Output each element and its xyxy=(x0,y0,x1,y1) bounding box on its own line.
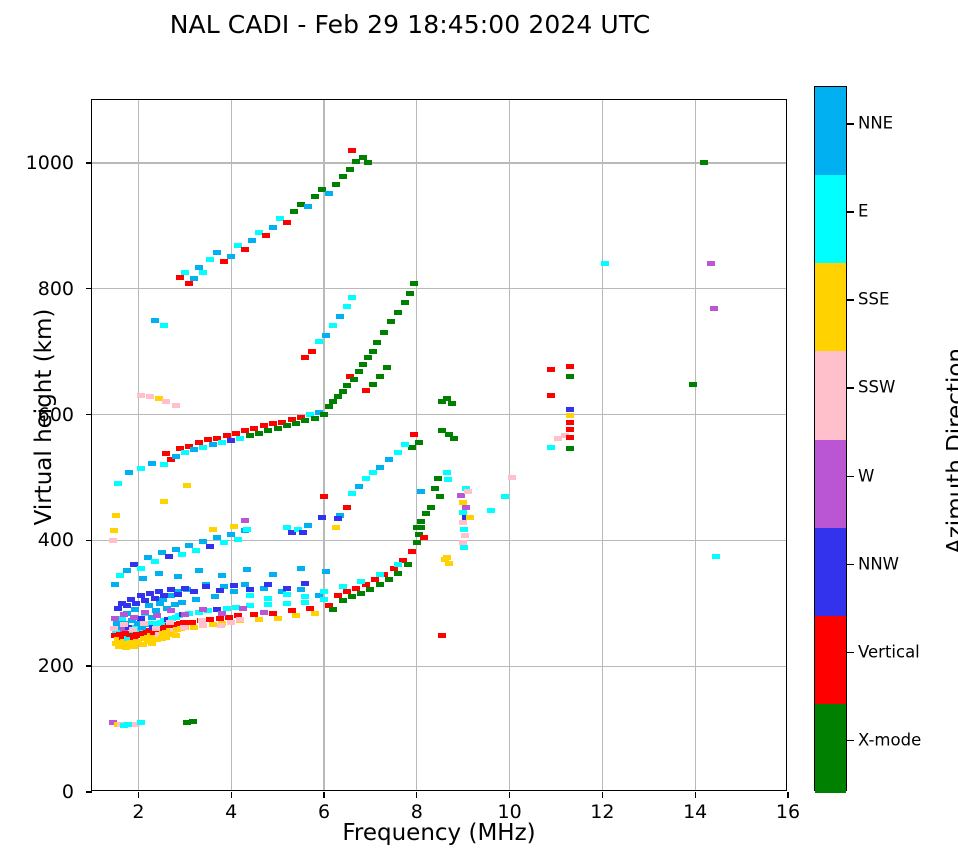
gridline-vertical xyxy=(509,100,510,790)
data-point xyxy=(566,427,574,432)
data-point xyxy=(114,481,122,486)
data-point xyxy=(274,426,282,431)
gridline-vertical xyxy=(602,100,603,790)
data-point xyxy=(172,403,180,408)
data-point xyxy=(461,533,469,538)
colorbar-segment-nne xyxy=(815,87,846,176)
data-point xyxy=(199,270,207,275)
data-point xyxy=(172,633,180,638)
data-point xyxy=(332,525,340,530)
colorbar-segment-e xyxy=(815,175,846,264)
data-point xyxy=(311,611,319,616)
data-point xyxy=(230,583,238,588)
data-point xyxy=(174,574,182,579)
data-point xyxy=(566,374,574,379)
colorbar-label-sse: SSE xyxy=(858,290,889,309)
data-point xyxy=(408,549,416,554)
data-point xyxy=(110,528,118,533)
data-point xyxy=(348,594,356,599)
colorbar-tick xyxy=(847,740,854,742)
data-point xyxy=(466,515,474,520)
data-point xyxy=(141,598,149,603)
data-point xyxy=(269,572,277,577)
data-point xyxy=(140,621,148,626)
data-point xyxy=(172,454,180,459)
data-point xyxy=(216,588,224,593)
data-point xyxy=(348,295,356,300)
data-point xyxy=(209,622,217,627)
data-point xyxy=(420,535,428,540)
data-point xyxy=(174,592,182,597)
data-point xyxy=(234,537,242,542)
data-point xyxy=(178,552,186,557)
data-point xyxy=(364,160,372,165)
data-point xyxy=(376,465,384,470)
colorbar-label-nnw: NNW xyxy=(858,554,899,573)
data-point xyxy=(181,270,189,275)
data-point xyxy=(359,362,367,367)
data-point xyxy=(114,606,122,611)
colorbar-label-x-mode: X-mode xyxy=(858,730,921,749)
data-point xyxy=(241,518,249,523)
data-point xyxy=(460,527,468,532)
data-point xyxy=(445,561,453,566)
data-point xyxy=(217,623,225,628)
data-point xyxy=(408,445,416,450)
colorbar-segment-sse xyxy=(815,263,846,352)
data-point xyxy=(547,393,555,398)
data-point xyxy=(124,722,132,727)
data-point xyxy=(311,416,319,421)
data-point xyxy=(712,554,720,559)
data-point xyxy=(376,374,384,379)
data-point xyxy=(448,401,456,406)
data-point xyxy=(283,601,291,606)
data-point xyxy=(160,323,168,328)
data-point xyxy=(109,538,117,543)
colorbar-title: Azimuth Direction xyxy=(943,201,958,701)
data-point xyxy=(369,382,377,387)
data-point xyxy=(190,625,198,630)
data-point xyxy=(129,627,137,632)
data-point xyxy=(339,598,347,603)
x-tick xyxy=(323,792,324,798)
data-point xyxy=(404,562,412,567)
data-point xyxy=(373,340,381,345)
data-point xyxy=(220,540,228,545)
data-point xyxy=(322,569,330,574)
colorbar-label-nne: NNE xyxy=(858,114,893,133)
data-point xyxy=(320,597,328,602)
data-point xyxy=(292,421,300,426)
data-point xyxy=(148,461,156,466)
data-point xyxy=(355,369,363,374)
data-point xyxy=(438,633,446,638)
colorbar-label-w: W xyxy=(858,466,874,485)
data-point xyxy=(246,593,254,598)
data-point xyxy=(123,568,131,573)
gridline-vertical xyxy=(416,100,417,790)
data-point xyxy=(297,587,305,592)
y-tick xyxy=(86,665,92,666)
data-point xyxy=(218,611,226,616)
data-point xyxy=(601,261,609,266)
colorbar-segment-nnw xyxy=(815,528,846,617)
y-tick xyxy=(86,540,92,541)
data-point xyxy=(343,505,351,510)
data-point xyxy=(436,494,444,499)
data-point xyxy=(380,330,388,335)
data-point xyxy=(160,593,168,598)
data-point xyxy=(153,613,161,618)
gridline-vertical xyxy=(231,100,232,790)
data-point xyxy=(264,596,272,601)
x-tick xyxy=(787,792,788,798)
colorbar-tick xyxy=(847,123,854,125)
data-point xyxy=(137,393,145,398)
data-point xyxy=(192,597,200,602)
data-point xyxy=(246,587,254,592)
data-point xyxy=(131,607,139,612)
colorbar xyxy=(814,86,847,791)
colorbar-segment-vertical xyxy=(815,616,846,705)
data-point xyxy=(301,581,309,586)
data-point xyxy=(112,513,120,518)
data-point xyxy=(206,257,214,262)
data-point xyxy=(264,602,272,607)
data-point xyxy=(566,407,574,412)
data-point xyxy=(318,515,326,520)
data-point xyxy=(162,399,170,404)
x-tick xyxy=(695,792,696,798)
data-point xyxy=(329,323,337,328)
data-point xyxy=(394,450,402,455)
data-point xyxy=(190,447,198,452)
data-point xyxy=(383,365,391,370)
data-point xyxy=(320,589,328,594)
gridline-horizontal xyxy=(92,540,786,541)
x-tick xyxy=(138,792,139,798)
data-point xyxy=(185,281,193,286)
data-point xyxy=(125,470,133,475)
y-tick xyxy=(86,414,92,415)
data-point xyxy=(264,428,272,433)
ionogram-figure: NAL CADI - Feb 29 18:45:00 2024 UTC 2468… xyxy=(0,0,958,857)
data-point xyxy=(248,238,256,243)
data-point xyxy=(369,470,377,475)
data-point xyxy=(202,584,210,589)
data-point xyxy=(269,225,277,230)
data-point xyxy=(332,182,340,187)
data-point xyxy=(227,620,235,625)
data-point xyxy=(130,615,138,620)
data-point xyxy=(413,525,421,530)
data-point xyxy=(181,586,189,591)
data-point xyxy=(165,554,173,559)
y-tick-label: 0 xyxy=(0,781,74,803)
data-point xyxy=(230,524,238,529)
data-point xyxy=(334,394,342,399)
data-point xyxy=(385,457,393,462)
data-point xyxy=(111,616,119,621)
data-point xyxy=(292,613,300,618)
data-point xyxy=(181,450,189,455)
data-point xyxy=(406,291,414,296)
data-point xyxy=(211,594,219,599)
data-point xyxy=(339,389,347,394)
data-point xyxy=(366,587,374,592)
x-tick xyxy=(602,792,603,798)
data-point xyxy=(246,603,254,608)
data-point xyxy=(385,577,393,582)
data-point xyxy=(297,566,305,571)
data-point xyxy=(413,540,421,545)
gridline-horizontal xyxy=(92,288,786,289)
data-point xyxy=(487,508,495,513)
data-point xyxy=(151,318,159,323)
data-point xyxy=(566,413,574,418)
data-point xyxy=(283,423,291,428)
data-point xyxy=(255,617,263,622)
data-point xyxy=(123,603,131,608)
data-point xyxy=(346,167,354,172)
data-point xyxy=(422,511,430,516)
data-point xyxy=(111,582,119,587)
data-point xyxy=(167,608,175,613)
page-title: NAL CADI - Feb 29 18:45:00 2024 UTC xyxy=(0,10,820,39)
data-point xyxy=(227,438,235,443)
data-point xyxy=(236,617,244,622)
data-point xyxy=(227,254,235,259)
colorbar-tick xyxy=(847,564,854,566)
data-point xyxy=(460,545,468,550)
data-point xyxy=(162,451,170,456)
gridline-horizontal xyxy=(92,414,786,415)
data-point xyxy=(301,594,309,599)
data-point xyxy=(299,530,307,535)
data-point xyxy=(241,247,249,252)
data-point xyxy=(357,579,365,584)
colorbar-segment-ssw xyxy=(815,351,846,440)
data-point xyxy=(508,475,516,480)
data-point xyxy=(394,562,402,567)
data-point xyxy=(141,610,149,615)
colorbar-tick xyxy=(847,211,854,213)
y-tick xyxy=(86,162,92,163)
data-point xyxy=(336,314,344,319)
data-point xyxy=(710,306,718,311)
data-point xyxy=(151,559,159,564)
gridline-vertical xyxy=(138,100,139,790)
data-point xyxy=(410,432,418,437)
x-tick xyxy=(509,792,510,798)
data-point xyxy=(283,586,291,591)
colorbar-tick xyxy=(847,299,854,301)
data-point xyxy=(198,618,206,623)
data-point xyxy=(322,333,330,338)
data-point xyxy=(195,568,203,573)
data-point xyxy=(343,304,351,309)
data-point xyxy=(325,404,333,409)
data-point xyxy=(137,466,145,471)
data-point xyxy=(230,589,238,594)
data-point xyxy=(329,399,337,404)
colorbar-tick xyxy=(847,387,854,389)
data-point xyxy=(301,418,309,423)
data-point xyxy=(262,233,270,238)
data-point xyxy=(213,250,221,255)
colorbar-segment-x-mode xyxy=(815,704,846,793)
data-point xyxy=(160,499,168,504)
x-tick xyxy=(416,792,417,798)
data-point xyxy=(348,491,356,496)
data-point xyxy=(350,377,358,382)
data-point xyxy=(206,544,214,549)
data-point xyxy=(239,606,247,611)
plot-canvas xyxy=(92,100,786,790)
data-point xyxy=(137,720,145,725)
plot-area: 24681012141602004006008001000 xyxy=(91,99,787,791)
data-point xyxy=(264,582,272,587)
data-point xyxy=(290,209,298,214)
data-point xyxy=(199,445,207,450)
data-point xyxy=(431,486,439,491)
data-point xyxy=(707,261,715,266)
data-point xyxy=(357,591,365,596)
data-point xyxy=(132,601,140,606)
data-point xyxy=(218,440,226,445)
x-tick xyxy=(231,792,232,798)
data-point xyxy=(427,505,435,510)
data-point xyxy=(120,622,128,627)
data-point xyxy=(325,191,333,196)
data-point xyxy=(146,394,154,399)
data-point xyxy=(218,573,226,578)
gridline-horizontal xyxy=(92,666,786,667)
data-point xyxy=(209,527,217,532)
data-point xyxy=(320,494,328,499)
data-point xyxy=(176,275,184,280)
data-point xyxy=(348,148,356,153)
data-point xyxy=(160,462,168,467)
data-point xyxy=(376,572,384,577)
data-point xyxy=(246,433,254,438)
data-point xyxy=(304,204,312,209)
data-point xyxy=(209,442,217,447)
data-point xyxy=(355,484,363,489)
data-point xyxy=(362,476,370,481)
colorbar-segment-w xyxy=(815,440,846,529)
data-point xyxy=(260,610,268,615)
data-point xyxy=(339,584,347,589)
data-point xyxy=(417,489,425,494)
data-point xyxy=(190,276,198,281)
data-point xyxy=(339,174,347,179)
data-point xyxy=(180,625,188,630)
gridline-horizontal xyxy=(92,162,786,163)
colorbar-label-ssw: SSW xyxy=(858,378,895,397)
data-point xyxy=(199,607,207,612)
data-point xyxy=(283,592,291,597)
data-point xyxy=(343,383,351,388)
data-point xyxy=(315,339,323,344)
data-point xyxy=(243,567,251,572)
data-point xyxy=(116,573,124,578)
data-point xyxy=(415,440,423,445)
data-point xyxy=(166,620,174,625)
data-point xyxy=(329,607,337,612)
gridline-vertical xyxy=(695,100,696,790)
data-point xyxy=(236,436,244,441)
data-point xyxy=(151,596,159,601)
data-point xyxy=(110,626,118,631)
data-point xyxy=(464,489,472,494)
data-point xyxy=(566,446,574,451)
x-axis-label: Frequency (MHz) xyxy=(91,820,787,846)
data-point xyxy=(376,582,384,587)
data-point xyxy=(394,571,402,576)
data-point xyxy=(369,349,377,354)
data-point xyxy=(434,476,442,481)
data-point xyxy=(155,571,163,576)
data-point xyxy=(501,494,509,499)
data-point xyxy=(566,364,574,369)
colorbar-label-vertical: Vertical xyxy=(858,642,920,661)
data-point xyxy=(566,435,574,440)
data-point xyxy=(181,612,189,617)
data-point xyxy=(417,519,425,524)
data-point xyxy=(311,194,319,199)
data-point xyxy=(308,349,316,354)
data-point xyxy=(364,355,372,360)
data-point xyxy=(274,616,282,621)
data-point xyxy=(334,516,342,521)
data-point xyxy=(255,431,263,436)
data-point xyxy=(443,470,451,475)
data-point xyxy=(190,589,198,594)
y-tick xyxy=(86,791,92,792)
data-point xyxy=(362,388,370,393)
gridline-vertical xyxy=(323,100,324,790)
data-point xyxy=(547,367,555,372)
y-axis-label: Virtual height (km) xyxy=(31,167,57,667)
data-point xyxy=(304,523,312,528)
colorbar-tick xyxy=(847,652,854,654)
data-point xyxy=(283,220,291,225)
data-point xyxy=(301,355,309,360)
data-point xyxy=(410,281,418,286)
data-point xyxy=(320,412,328,417)
data-point xyxy=(183,483,191,488)
data-point xyxy=(459,520,467,525)
data-point xyxy=(301,600,309,605)
data-point xyxy=(700,160,708,165)
colorbar-tick xyxy=(847,476,854,478)
data-point xyxy=(387,319,395,324)
data-point xyxy=(137,566,145,571)
data-point xyxy=(192,548,200,553)
data-point xyxy=(689,382,697,387)
y-tick xyxy=(86,288,92,289)
data-point xyxy=(152,626,160,631)
data-point xyxy=(243,527,251,532)
data-point xyxy=(199,623,207,628)
data-point xyxy=(139,576,147,581)
data-point xyxy=(394,310,402,315)
data-point xyxy=(444,477,452,482)
data-point xyxy=(401,442,409,447)
data-point xyxy=(401,300,409,305)
